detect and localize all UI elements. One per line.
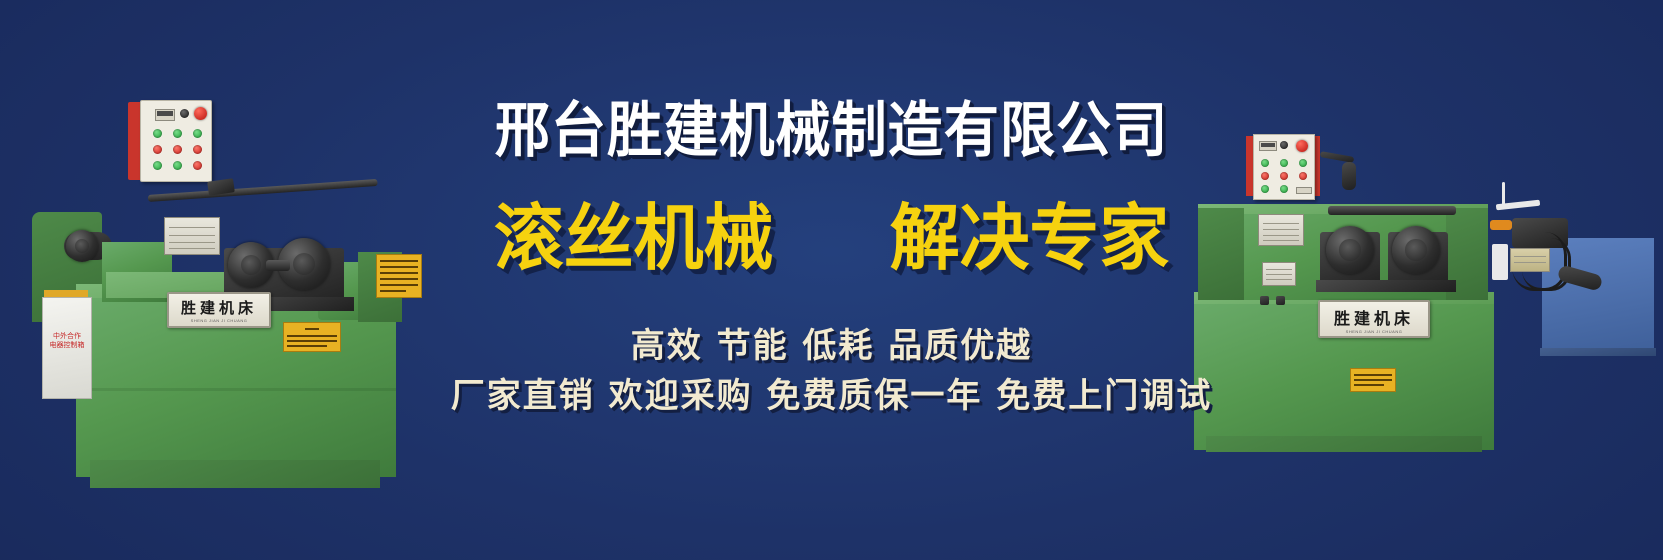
right-machine-button[interactable]: [1299, 172, 1307, 180]
left-machine-button[interactable]: [153, 145, 162, 154]
headline-right: 解决专家: [890, 196, 1169, 280]
left-machine-cabinet-text-line1: 中外合作: [53, 332, 81, 340]
right-machine-emergency-stop-button[interactable]: [1296, 140, 1308, 152]
promo-banner: 胜建机床 SHENG JIAN JI CHUANG 中外合作 电器控制箱: [0, 0, 1663, 560]
right-machine-roller-die-2: [1392, 226, 1440, 274]
right-machine-button[interactable]: [1280, 159, 1288, 167]
right-machine-nameplate-pinyin: SHENG JIAN JI CHUANG: [1346, 329, 1403, 334]
left-machine-button[interactable]: [173, 161, 182, 170]
left-machine-cabinet-text-line2: 电器控制箱: [50, 341, 85, 349]
right-machine-panel-display: [1259, 141, 1277, 151]
right-machine-panel-slider[interactable]: [1296, 187, 1312, 194]
right-machine-button[interactable]: [1261, 172, 1269, 180]
right-machine-switch-1[interactable]: [1260, 296, 1269, 305]
right-machine-orange-connector: [1490, 220, 1512, 230]
right-machine-side-plate: [1510, 248, 1550, 272]
right-machine-spec-plate: [1258, 214, 1304, 246]
right-machine-left-column: [1198, 208, 1244, 300]
left-machine-nameplate-cn: 胜建机床: [181, 297, 257, 318]
left-machine-rear-roller: [66, 230, 98, 262]
left-machine-side-label: [376, 254, 422, 298]
right-machine-nameplate-cn: 胜建机床: [1334, 305, 1414, 329]
left-machine-image: 胜建机床 SHENG JIAN JI CHUANG 中外合作 电器控制箱: [28, 92, 428, 482]
right-machine-nameplate: 胜建机床 SHENG JIAN JI CHUANG: [1318, 300, 1430, 338]
right-machine-control-panel: [1253, 134, 1315, 200]
right-machine-tool-holder: [1492, 244, 1508, 280]
headline-left: 滚丝机械: [494, 196, 773, 280]
right-machine-panel-knob[interactable]: [1280, 141, 1288, 149]
right-machine-switch-2[interactable]: [1276, 296, 1285, 305]
left-machine-roller-shaft: [266, 260, 290, 271]
left-machine-panel-knob[interactable]: [180, 109, 189, 118]
right-machine-secondary-plate: [1262, 262, 1296, 286]
left-machine-top-bar: [148, 179, 378, 202]
left-machine-button[interactable]: [173, 129, 182, 138]
left-machine-control-panel: [140, 100, 212, 182]
right-machine-roller-die-1: [1326, 226, 1374, 274]
left-machine-button[interactable]: [173, 145, 182, 154]
left-machine-nameplate-pinyin: SHENG JIAN JI CHUANG: [191, 318, 248, 323]
right-machine-bed-skirt: [1206, 436, 1482, 452]
left-machine-bed-skirt: [90, 460, 380, 488]
left-machine-bed-shadow: [76, 388, 396, 391]
left-machine-button[interactable]: [153, 129, 162, 138]
right-machine-head-base: [1316, 280, 1456, 292]
left-machine-button[interactable]: [193, 145, 202, 154]
right-machine-hydraulic-base: [1540, 348, 1656, 356]
right-machine-top-shaft: [1328, 206, 1456, 215]
left-machine-spec-plate: [164, 217, 220, 255]
right-machine-warning-label: [1350, 368, 1396, 392]
left-machine-panel-display: [155, 109, 175, 121]
right-machine-button[interactable]: [1299, 159, 1307, 167]
left-machine-button[interactable]: [193, 129, 202, 138]
left-machine-nameplate: 胜建机床 SHENG JIAN JI CHUANG: [167, 292, 271, 328]
right-machine-conduit-boot: [1342, 162, 1356, 190]
right-machine-button[interactable]: [1280, 185, 1288, 193]
left-machine-emergency-stop-button[interactable]: [194, 107, 207, 120]
right-machine-image: 胜建机床 SHENG JIAN JI CHUANG: [1160, 120, 1660, 455]
left-machine-warning-label: [283, 322, 341, 352]
left-machine-cabinet-text: 中外合作 电器控制箱: [43, 332, 91, 350]
left-machine-button[interactable]: [193, 161, 202, 170]
right-machine-button[interactable]: [1261, 185, 1269, 193]
left-machine-button[interactable]: [153, 161, 162, 170]
right-machine-button[interactable]: [1261, 159, 1269, 167]
right-machine-button[interactable]: [1280, 172, 1288, 180]
right-machine-antenna: [1502, 182, 1505, 206]
left-machine-electric-cabinet: 中外合作 电器控制箱: [42, 297, 92, 399]
